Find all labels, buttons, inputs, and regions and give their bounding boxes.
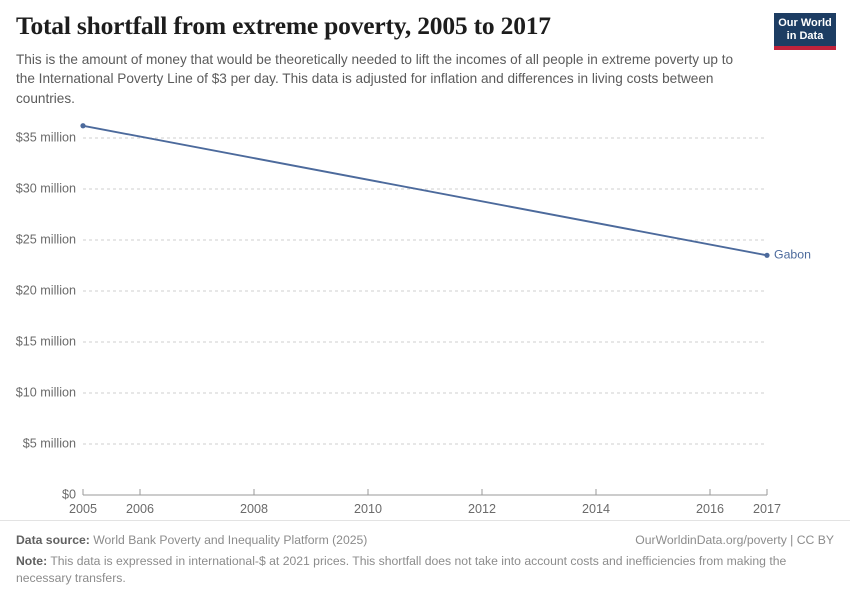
chart-plot-area[interactable]: $0$5 million$10 million$15 million$20 mi… <box>0 110 850 520</box>
x-axis-tick-label: 2012 <box>468 502 496 516</box>
data-series[interactable]: Gabon <box>80 123 811 261</box>
data-source-value: World Bank Poverty and Inequality Platfo… <box>90 533 368 547</box>
x-axis-tick-label: 2006 <box>126 502 154 516</box>
x-axis-tick-label: 2010 <box>354 502 382 516</box>
attribution-link[interactable]: OurWorldinData.org/poverty | CC BY <box>635 533 834 547</box>
data-source: Data source: World Bank Poverty and Ineq… <box>16 533 367 547</box>
note-label: Note: <box>16 554 47 568</box>
data-point-marker[interactable] <box>764 253 769 258</box>
chart-header: Total shortfall from extreme poverty, 20… <box>0 0 850 112</box>
note-text: This data is expressed in international-… <box>16 554 786 585</box>
x-axis-tick-label: 2008 <box>240 502 268 516</box>
y-axis-tick-label: $5 million <box>23 436 76 450</box>
y-axis-tick-label: $15 million <box>16 334 76 348</box>
y-axis-tick-label: $0 <box>62 487 76 501</box>
chart-footer: Data source: World Bank Poverty and Ineq… <box>0 520 850 601</box>
logo-line-1: Our World <box>778 17 832 29</box>
x-axis-tick-label: 2014 <box>582 502 610 516</box>
x-axis-tick-label: 2017 <box>753 502 781 516</box>
y-axis-tick-label: $20 million <box>16 283 76 297</box>
x-axis-tick-label: 2005 <box>69 502 97 516</box>
our-world-in-data-logo[interactable]: Our World in Data <box>774 13 836 50</box>
y-axis-tick-label: $10 million <box>16 385 76 399</box>
x-axis-tick-label: 2016 <box>696 502 724 516</box>
series-line-gabon[interactable] <box>83 126 767 256</box>
y-axis-tick-label: $35 million <box>16 130 76 144</box>
x-axis-tick-labels: 20052006200820102012201420162017 <box>69 502 781 516</box>
line-chart-svg[interactable]: $0$5 million$10 million$15 million$20 mi… <box>0 110 850 520</box>
series-label-gabon[interactable]: Gabon <box>774 248 811 262</box>
page-title: Total shortfall from extreme poverty, 20… <box>16 12 756 40</box>
y-axis-tick-labels: $0$5 million$10 million$15 million$20 mi… <box>16 130 76 501</box>
data-point-marker[interactable] <box>80 123 85 128</box>
gridlines <box>83 138 767 495</box>
x-axis-ticks <box>83 489 767 495</box>
logo-line-2: in Data <box>787 30 824 42</box>
chart-subtitle: This is the amount of money that would b… <box>16 50 742 108</box>
data-source-label: Data source: <box>16 533 90 547</box>
y-axis-tick-label: $30 million <box>16 181 76 195</box>
y-axis-tick-label: $25 million <box>16 232 76 246</box>
chart-note: Note: This data is expressed in internat… <box>16 553 816 588</box>
